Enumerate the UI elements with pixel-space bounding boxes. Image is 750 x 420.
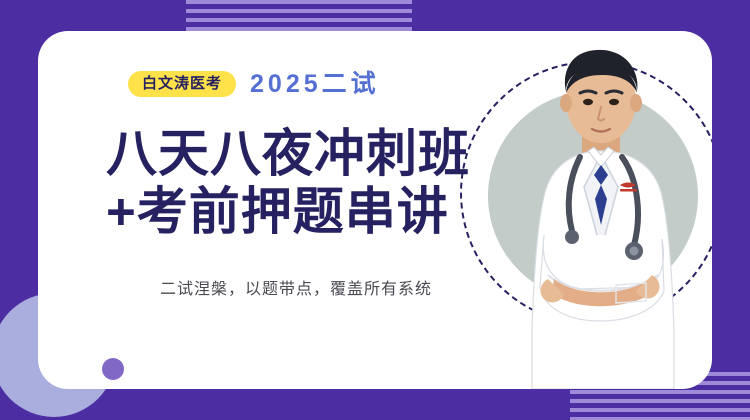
subtitle: 二试涅槃，以题带点，覆盖所有系统 bbox=[160, 275, 524, 299]
headline-line-2: +考前押题串讲 bbox=[106, 183, 524, 241]
eyebrow-title: 2025二试 bbox=[250, 72, 380, 97]
promo-poster: 白文涛医考 2025二试 八天八夜冲刺班 +考前押题串讲 二试涅槃，以题带点，覆… bbox=[0, 0, 750, 420]
content-card: 白文涛医考 2025二试 八天八夜冲刺班 +考前押题串讲 二试涅槃，以题带点，覆… bbox=[38, 31, 712, 389]
headline-block: 白文涛医考 2025二试 八天八夜冲刺班 +考前押题串讲 二试涅槃，以题带点，覆… bbox=[104, 45, 524, 299]
eyebrow-row: 白文涛医考 2025二试 bbox=[128, 67, 524, 101]
stripe-pattern-top bbox=[186, 0, 412, 34]
purple-dot-icon bbox=[102, 358, 124, 380]
brand-badge: 白文涛医考 bbox=[128, 71, 236, 97]
doctor-portrait bbox=[496, 39, 706, 389]
headline-line-1: 八天八夜冲刺班 bbox=[106, 125, 524, 183]
